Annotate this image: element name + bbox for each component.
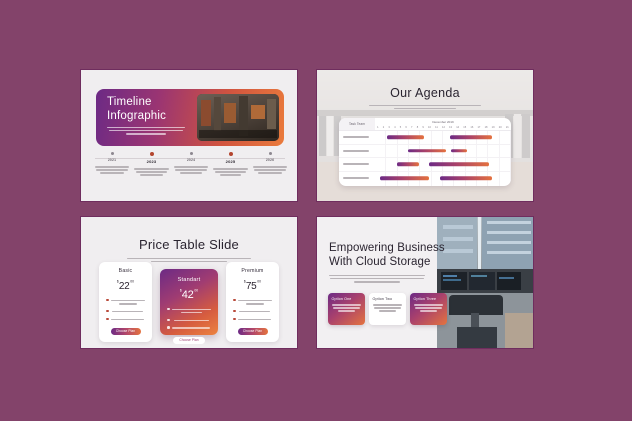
choose-plan-button[interactable]: Choose Plan xyxy=(238,328,268,335)
option-body xyxy=(373,304,403,312)
presentation-template-preview: Timeline Infographic 2021 xyxy=(80,69,552,349)
gantt-bar[interactable] xyxy=(408,149,446,152)
gantt-tick: 9 xyxy=(422,126,423,129)
gantt-row[interactable] xyxy=(339,172,511,186)
gantt-row[interactable] xyxy=(339,145,511,159)
gantt-bar[interactable] xyxy=(440,177,492,180)
gantt-tick: 5 xyxy=(400,126,401,129)
plan-name: Premium xyxy=(231,268,274,274)
timeline-item[interactable]: 2023 xyxy=(133,152,171,178)
option-body xyxy=(414,304,444,312)
option-card-two[interactable]: Option Two xyxy=(369,293,406,325)
timeline-year: 2021 xyxy=(93,158,131,162)
option-title: Option Three xyxy=(414,297,444,301)
pricing-card-premium[interactable]: Premium $75.00 Choose Plan xyxy=(226,262,279,342)
gantt-bar[interactable] xyxy=(429,163,489,166)
timeline-dot-icon xyxy=(269,152,272,155)
gantt-tick: 19 xyxy=(492,126,495,129)
choose-plan-button[interactable]: Choose Plan xyxy=(111,328,141,335)
timeline-body xyxy=(172,166,210,174)
gantt-rows xyxy=(339,131,511,185)
slide-price-table[interactable]: Price Table Slide Basic $22.00 Choose Pl… xyxy=(80,216,298,349)
timeline-dot-icon xyxy=(229,152,233,156)
timeline-body xyxy=(212,168,250,176)
gantt-month-label: December 2019 xyxy=(375,120,511,124)
pricing-cards: Basic $22.00 Choose Plan Standart $42.00 xyxy=(99,269,279,335)
timeline-body xyxy=(251,166,289,174)
plan-name: Standart xyxy=(165,277,213,283)
timeline-item[interactable]: 2021 xyxy=(93,152,131,178)
slide-our-agenda[interactable]: Our Agenda Task Team December 2019 1 2 3… xyxy=(316,69,534,202)
slide-title: Empowering Business With Cloud Storage xyxy=(329,241,525,269)
gantt-tick: 2 xyxy=(383,126,384,129)
check-icon xyxy=(106,299,109,302)
option-card-three[interactable]: Option Three xyxy=(410,293,447,325)
plan-name: Basic xyxy=(104,268,147,274)
slide-title: Timeline Infographic xyxy=(107,96,166,123)
check-icon xyxy=(167,319,170,322)
gantt-day-ticks: 1 2 3 4 5 6 7 8 9 10 11 12 13 14 xyxy=(375,126,511,129)
timeline-dot-icon xyxy=(190,152,193,155)
gantt-bar[interactable] xyxy=(387,136,424,139)
option-title: Option Two xyxy=(373,297,403,301)
gantt-bar[interactable] xyxy=(450,136,492,139)
plan-price: $75.00 xyxy=(231,277,274,293)
check-icon xyxy=(233,310,236,313)
check-icon xyxy=(167,308,170,311)
timeline-dot-icon xyxy=(111,152,114,155)
option-body xyxy=(332,304,362,312)
pricing-card-standart[interactable]: Standart $42.00 Choose Plan xyxy=(160,269,218,335)
option-cards: Option One Option Two Option Three xyxy=(328,293,527,325)
gantt-tick: 10 xyxy=(428,126,431,129)
gantt-row-label xyxy=(339,162,375,167)
gantt-tick: 17 xyxy=(477,126,480,129)
plan-feature xyxy=(167,326,211,331)
gantt-tick: 15 xyxy=(463,126,466,129)
banner-subtitle xyxy=(107,125,185,136)
plan-price: $22.00 xyxy=(104,277,147,293)
gantt-tick: 12 xyxy=(442,126,445,129)
gantt-tick: 14 xyxy=(456,126,459,129)
gantt-row-label xyxy=(339,148,375,153)
gantt-row-label xyxy=(339,176,375,181)
gantt-tick: 20 xyxy=(499,126,502,129)
plan-decimals: .00 xyxy=(256,280,261,284)
gantt-tick: 1 xyxy=(377,126,378,129)
plan-feature xyxy=(233,309,272,314)
slide-empowering-business[interactable]: Empowering Business With Cloud Storage O… xyxy=(316,216,534,349)
timeline-body xyxy=(133,168,171,176)
plan-price: $42.00 xyxy=(165,286,213,302)
plan-amount: 22 xyxy=(119,281,130,292)
plan-amount: 75 xyxy=(246,281,257,292)
option-title: Option One xyxy=(332,297,362,301)
plan-feature xyxy=(233,298,272,306)
plan-decimals: .00 xyxy=(193,289,198,293)
gantt-tick: 4 xyxy=(394,126,395,129)
plan-amount: 42 xyxy=(182,289,194,301)
gantt-bar[interactable] xyxy=(380,177,429,180)
gantt-tick: 21 xyxy=(506,126,509,129)
office-photo xyxy=(437,217,533,348)
gantt-tick: 7 xyxy=(411,126,412,129)
slide-subtitle xyxy=(329,273,425,284)
gantt-tick: 16 xyxy=(470,126,473,129)
timeline-year: 2023 xyxy=(133,159,171,164)
gantt-bar[interactable] xyxy=(397,163,419,166)
gantt-chart[interactable]: Task Team December 2019 1 2 3 4 5 6 7 8 … xyxy=(339,118,511,186)
gantt-header: Task Team December 2019 1 2 3 4 5 6 7 8 … xyxy=(339,118,511,131)
plan-feature xyxy=(167,318,211,323)
slide-subtitle xyxy=(369,103,481,111)
timeline-item[interactable]: 2025 xyxy=(212,152,250,178)
plan-feature xyxy=(106,298,145,306)
gantt-corner-label: Task Team xyxy=(339,118,375,130)
pricing-card-basic[interactable]: Basic $22.00 Choose Plan xyxy=(99,262,152,342)
check-icon xyxy=(167,326,170,329)
gantt-row-label xyxy=(339,135,375,140)
gantt-tick: 11 xyxy=(435,126,438,129)
timeline-year: 2025 xyxy=(212,159,250,164)
timeline-banner: Timeline Infographic xyxy=(96,89,284,146)
check-icon xyxy=(233,318,236,321)
timeline-dot-icon xyxy=(150,152,154,156)
plan-feature xyxy=(167,307,211,315)
option-card-one[interactable]: Option One xyxy=(328,293,365,325)
timeline-item[interactable]: 2024 xyxy=(172,152,210,178)
slide-title: Price Table Slide xyxy=(81,237,297,252)
gantt-row[interactable] xyxy=(339,131,511,145)
timeline-body xyxy=(93,166,131,174)
gantt-tick: 3 xyxy=(388,126,389,129)
slide-timeline-infographic[interactable]: Timeline Infographic 2021 xyxy=(80,69,298,202)
plan-feature xyxy=(233,317,272,322)
plan-feature xyxy=(106,317,145,322)
gantt-tick: 13 xyxy=(449,126,452,129)
timeline-year: 2024 xyxy=(172,158,210,162)
gantt-row[interactable] xyxy=(339,158,511,172)
gantt-tick: 6 xyxy=(405,126,406,129)
choose-plan-button[interactable]: Choose Plan xyxy=(173,337,205,345)
check-icon xyxy=(233,299,236,302)
gantt-tick: 18 xyxy=(485,126,488,129)
plan-features xyxy=(167,307,211,331)
timeline-milestones: 2021 2023 2024 xyxy=(93,152,289,178)
timeline-year: 2026 xyxy=(251,158,289,162)
slide-title: Our Agenda xyxy=(317,86,533,100)
plan-feature xyxy=(106,309,145,314)
check-icon xyxy=(106,318,109,321)
gantt-bar[interactable] xyxy=(451,149,467,152)
timeline-item[interactable]: 2026 xyxy=(251,152,289,178)
plan-features xyxy=(233,298,272,322)
banner-photo xyxy=(197,94,279,141)
plan-features xyxy=(106,298,145,322)
check-icon xyxy=(106,310,109,313)
plan-decimals: .00 xyxy=(129,280,134,284)
gantt-tick: 8 xyxy=(417,126,418,129)
